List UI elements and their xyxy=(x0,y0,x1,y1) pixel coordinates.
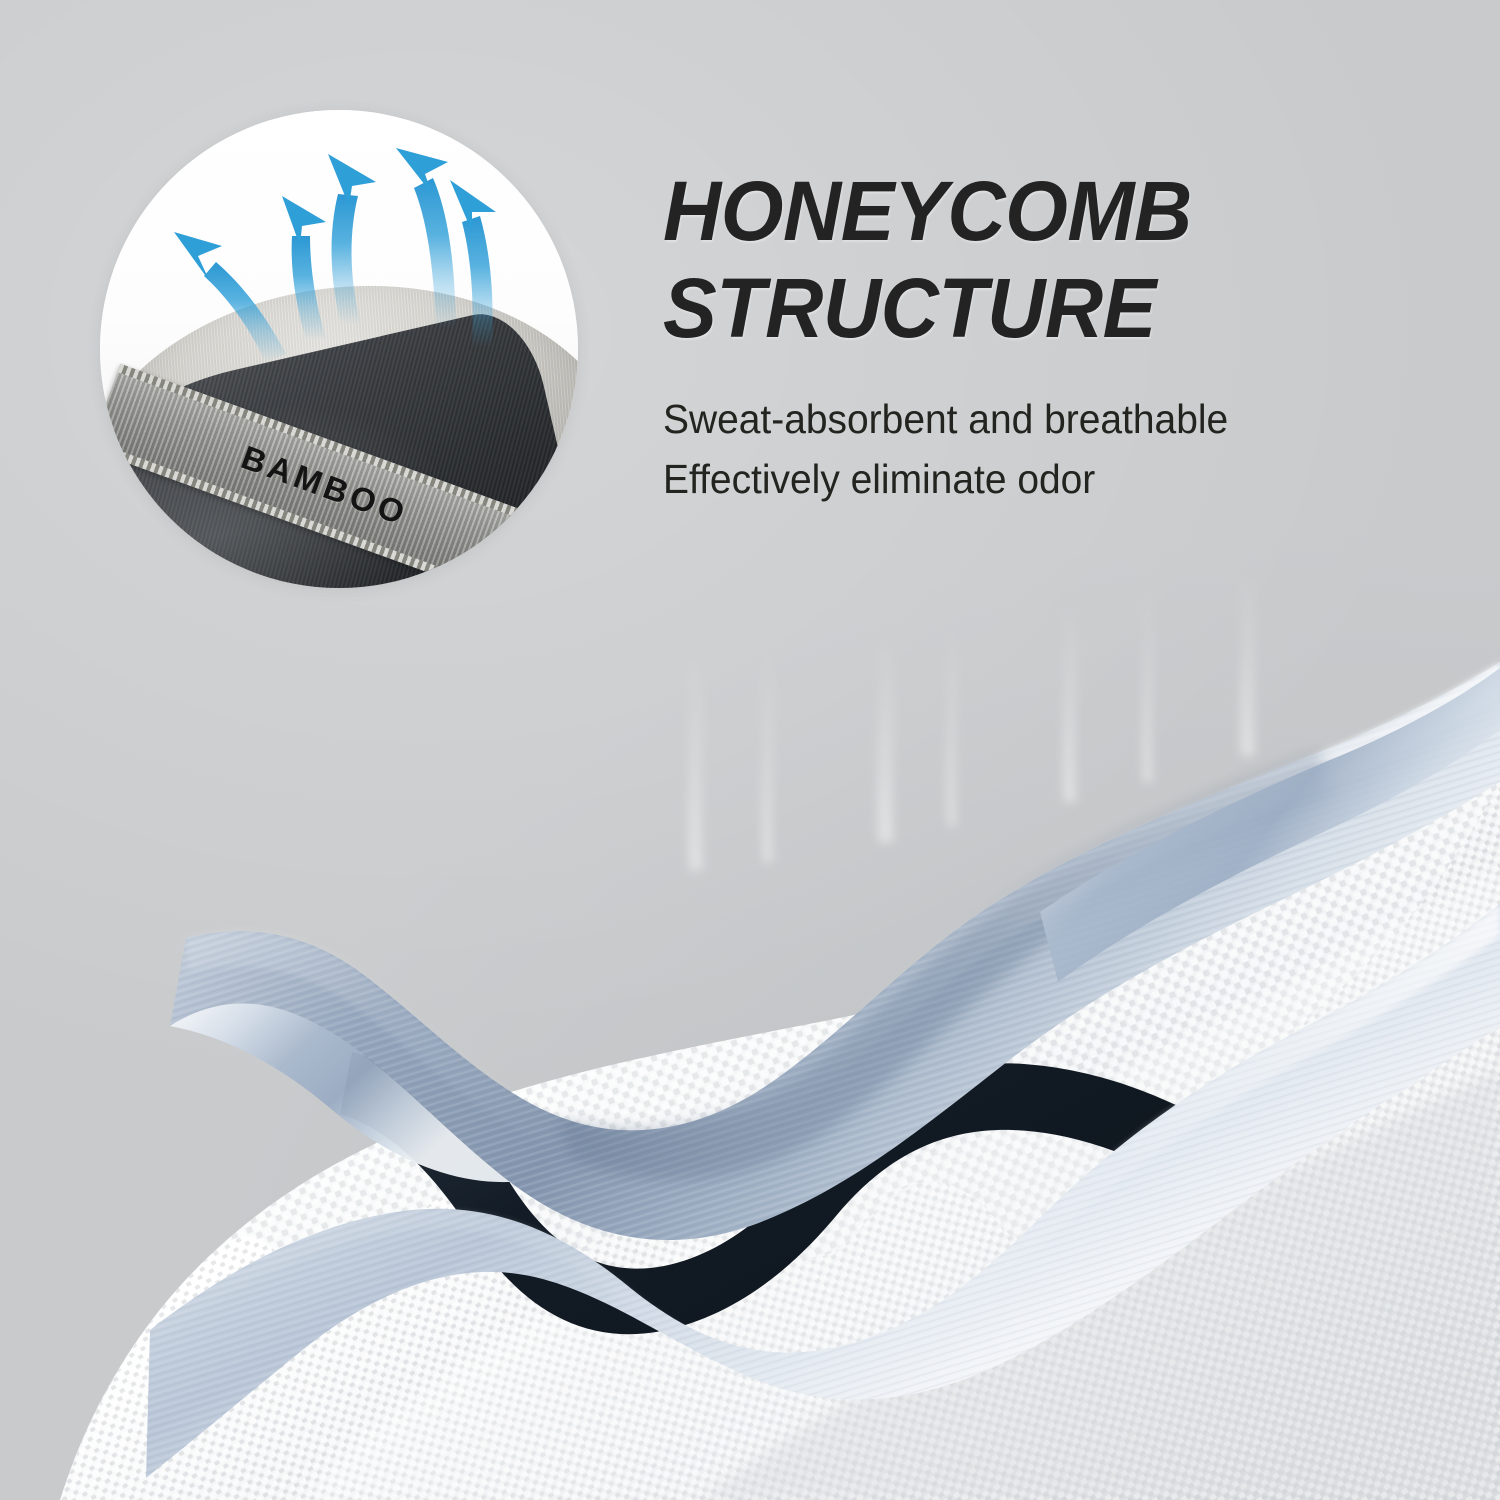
page-title-line-2: STRUCTURE xyxy=(663,267,1335,350)
fabric-svg xyxy=(0,430,1500,1500)
product-feature-banner: BAMBOO xyxy=(0,0,1500,1500)
fabric-illustration xyxy=(0,430,1500,1500)
page-title-line-1: HONEYCOMB xyxy=(663,170,1335,253)
